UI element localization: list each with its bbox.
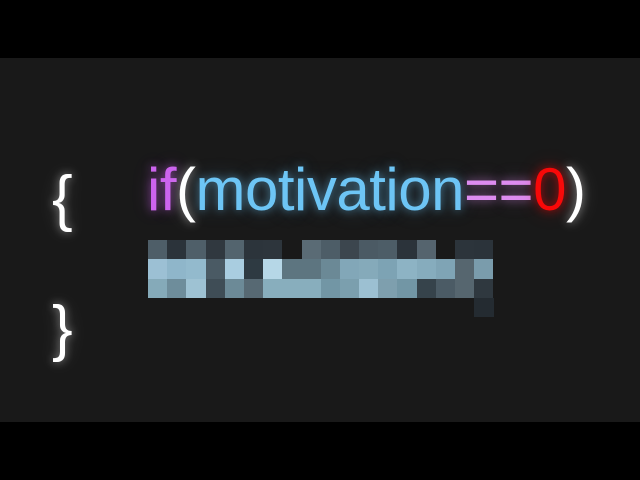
mosaic-block [340, 259, 359, 278]
brace-open: { [52, 168, 73, 230]
mosaic-block [474, 279, 493, 298]
mosaic-block [397, 240, 416, 259]
mosaic-block [321, 240, 340, 259]
mosaic-block [474, 259, 493, 278]
keyword-if-token: if [147, 156, 176, 223]
mosaic-block [302, 259, 321, 278]
mosaic-block [474, 240, 493, 259]
mosaic-block [417, 259, 436, 278]
mosaic-block [359, 259, 378, 278]
mosaic-block [282, 240, 301, 259]
mosaic-block [455, 259, 474, 278]
mosaic-block [225, 240, 244, 259]
mosaic-block [359, 279, 378, 298]
mosaic-block [206, 259, 225, 278]
mosaic-block [167, 279, 186, 298]
letterbox-bar-top [0, 0, 640, 58]
mosaic-block [263, 259, 282, 278]
censored-code-body [148, 240, 494, 317]
mosaic-block [378, 279, 397, 298]
pixelation-mosaic [148, 240, 494, 298]
mosaic-block [378, 240, 397, 259]
mosaic-block [167, 240, 186, 259]
mosaic-block [455, 240, 474, 259]
mosaic-block [417, 279, 436, 298]
mosaic-block [436, 259, 455, 278]
mosaic-block [282, 279, 301, 298]
mosaic-block [302, 279, 321, 298]
paren-close-token: ) [566, 156, 585, 223]
mosaic-block [167, 259, 186, 278]
mosaic-block [244, 279, 263, 298]
code-stage: if(motivation==0) { } [0, 58, 640, 422]
mosaic-block [340, 279, 359, 298]
mosaic-block [186, 259, 205, 278]
mosaic-block [397, 279, 416, 298]
mosaic-block [263, 279, 282, 298]
mosaic-block [244, 259, 263, 278]
mosaic-block [417, 240, 436, 259]
mosaic-block [302, 240, 321, 259]
mosaic-block [225, 279, 244, 298]
mosaic-block [186, 279, 205, 298]
mosaic-block [148, 259, 167, 278]
pixelation-mosaic-tail-block [474, 298, 493, 317]
number-zero-token: 0 [533, 156, 566, 223]
mosaic-block [397, 259, 416, 278]
mosaic-block [206, 279, 225, 298]
mosaic-block [244, 240, 263, 259]
mosaic-block [148, 240, 167, 259]
letterbox-bar-bottom [0, 422, 640, 480]
variable-motivation-token: motivation [196, 156, 464, 223]
mosaic-block [359, 240, 378, 259]
mosaic-block [148, 279, 167, 298]
mosaic-block [282, 259, 301, 278]
operator-equality-token: == [464, 156, 533, 223]
mosaic-block [186, 240, 205, 259]
brace-close: } [52, 298, 73, 360]
mosaic-block [225, 259, 244, 278]
mosaic-block [321, 279, 340, 298]
mosaic-block [206, 240, 225, 259]
mosaic-block [340, 240, 359, 259]
mosaic-block [436, 279, 455, 298]
mosaic-block [321, 259, 340, 278]
mosaic-block [378, 259, 397, 278]
video-frame: if(motivation==0) { } [0, 0, 640, 480]
paren-open-token: ( [176, 156, 195, 223]
mosaic-block [455, 279, 474, 298]
mosaic-block [436, 240, 455, 259]
mosaic-block [263, 240, 282, 259]
